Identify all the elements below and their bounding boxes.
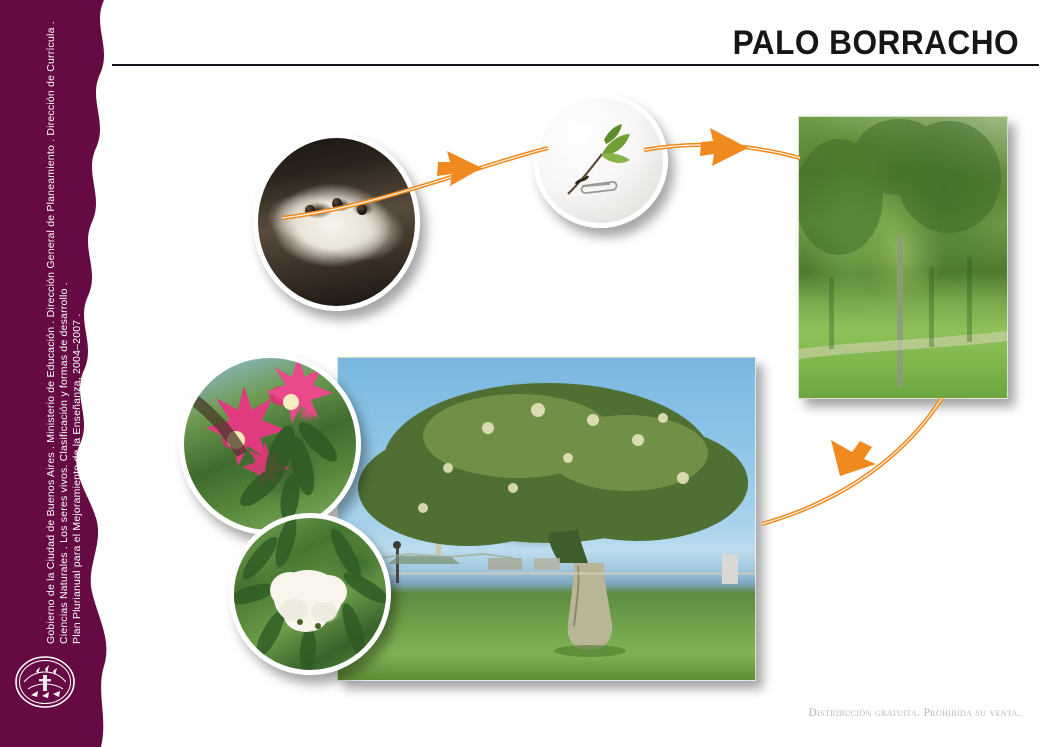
- seedling-illustration: [538, 98, 663, 223]
- figure-flowers-photo: [179, 353, 361, 535]
- figure-cotton-fruit-photo: [229, 513, 391, 675]
- flower-detail: [184, 358, 356, 530]
- seed-dot: [332, 198, 342, 209]
- figure-main-tree-photo: [337, 357, 756, 681]
- slide-canvas: Gobierno de la Ciudad de Buenos Aires . …: [0, 0, 1059, 747]
- park-tree-detail: [799, 117, 1007, 398]
- page-title: PALO BORRACHO: [732, 24, 1019, 63]
- arrow-park-tree-to-main-tree: [762, 398, 942, 524]
- sidebar: Gobierno de la Ciudad de Buenos Aires . …: [0, 0, 118, 747]
- figure-park-tree-photo: [798, 116, 1008, 399]
- seed-dot: [357, 204, 367, 215]
- cotton-fruit-detail: [234, 518, 386, 670]
- seed-dot: [305, 205, 315, 216]
- main-tree-detail: [338, 358, 755, 680]
- figure-seeds-photo: [253, 133, 420, 311]
- title-underline-rule: [112, 64, 1039, 66]
- sidebar-wave-shape: [0, 0, 118, 747]
- footer-distribution-notice: Distribución gratuita. Prohibida su vent…: [809, 707, 1021, 719]
- buenos-aires-city-seal-logo: [14, 655, 76, 710]
- figure-seedling-photo: [533, 93, 668, 228]
